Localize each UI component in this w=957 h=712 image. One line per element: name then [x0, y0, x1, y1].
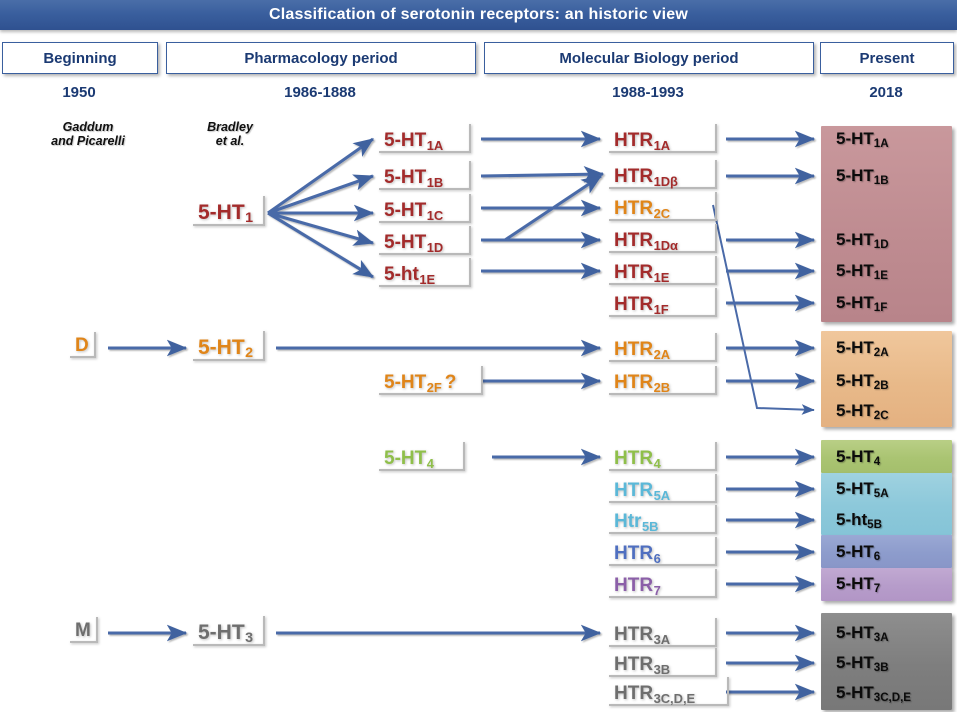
diagram-title: Classification of serotonin receptors: a…: [0, 0, 957, 30]
token-htr4: HTR4: [609, 442, 717, 471]
arrow-group-molecular-to-present: [726, 139, 814, 692]
token-htr3cde: HTR3C,D,E: [609, 677, 729, 706]
token-5ht1: 5-HT1: [193, 196, 265, 226]
token-htr1da: HTR1Dα: [609, 224, 717, 253]
token-5ht1c: 5-HT1C: [379, 194, 471, 223]
result-5ht3b: 5-HT3B: [836, 654, 889, 672]
author-note-bradley: Bradley et al.: [175, 120, 285, 148]
result-5ht5a: 5-HT5A: [836, 480, 889, 498]
token-5ht1b: 5-HT1B: [379, 161, 471, 190]
token-htr3a: HTR3A: [609, 618, 717, 647]
result-5ht6: 5-HT6: [836, 543, 880, 561]
token-M: M: [70, 617, 98, 643]
token-htr1db: HTR1Dβ: [609, 160, 717, 189]
period-header-pharmacology: Pharmacology period: [166, 42, 476, 74]
result-5ht1b: 5-HT1B: [836, 167, 889, 185]
arrow-layer: [0, 0, 957, 712]
token-htr5a: HTR5A: [609, 474, 717, 503]
period-header-molecular-biology: Molecular Biology period: [484, 42, 814, 74]
author-note-bradley-line1: Bradley: [175, 120, 285, 134]
token-5ht2: 5-HT2: [193, 331, 265, 361]
token-htr2c: HTR2C: [609, 192, 717, 221]
result-5ht1a: 5-HT1A: [836, 130, 889, 148]
author-note-gaddum: Gaddum and Picarelli: [18, 120, 158, 148]
result-5ht1d: 5-HT1D: [836, 231, 889, 249]
period-header-present: Present: [820, 42, 954, 74]
author-note-gaddum-line2: and Picarelli: [18, 134, 158, 148]
period-header-beginning: Beginning: [2, 42, 158, 74]
arrow-group-pharm-to-molecular: [108, 139, 603, 633]
result-5ht1e: 5-HT1E: [836, 262, 888, 280]
result-5ht3a: 5-HT3A: [836, 624, 889, 642]
arrow-group-fan-5ht1: [268, 139, 373, 277]
token-5ht1d: 5-HT1D: [379, 226, 471, 255]
token-htr1f: HTR1F: [609, 288, 717, 317]
result-5ht5b: 5-ht5B: [836, 511, 882, 529]
token-5ht2f: 5-HT2F?: [379, 366, 483, 395]
arrow-htr2c-to-5ht2c: [713, 205, 814, 410]
author-note-gaddum-line1: Gaddum: [18, 120, 158, 134]
token-5ht1e: 5-ht1E: [379, 258, 471, 287]
author-note-bradley-line2: et al.: [175, 134, 285, 148]
result-5ht2b: 5-HT2B: [836, 372, 889, 390]
token-htr2a: HTR2A: [609, 333, 717, 362]
token-htr1e: HTR1E: [609, 256, 717, 285]
result-5ht2c: 5-HT2C: [836, 402, 889, 420]
result-5ht4: 5-HT4: [836, 448, 880, 466]
token-htr7: HTR7: [609, 569, 717, 598]
token-htr1a: HTR1A: [609, 124, 717, 153]
token-5ht4: 5-HT4: [379, 442, 465, 471]
year-beginning: 1950: [2, 84, 156, 101]
token-htr6: HTR6: [609, 537, 717, 566]
token-5ht3: 5-HT3: [193, 616, 265, 646]
token-5ht1a: 5-HT1A: [379, 124, 471, 153]
token-D: D: [70, 332, 96, 358]
result-5ht2a: 5-HT2A: [836, 339, 889, 357]
token-htr5b: Htr5B: [609, 505, 717, 534]
year-present: 2018: [820, 84, 952, 101]
result-5ht7: 5-HT7: [836, 575, 880, 593]
result-5ht3cde: 5-HT3C,D,E: [836, 684, 911, 702]
token-htr2b: HTR2B: [609, 366, 717, 395]
year-molecular-biology: 1988-1993: [484, 84, 812, 101]
token-htr3b: HTR3B: [609, 648, 717, 677]
diagram-canvas: Classification of serotonin receptors: a…: [0, 0, 957, 712]
result-5ht1f: 5-HT1F: [836, 294, 887, 312]
year-pharmacology: 1986-1888: [166, 84, 474, 101]
